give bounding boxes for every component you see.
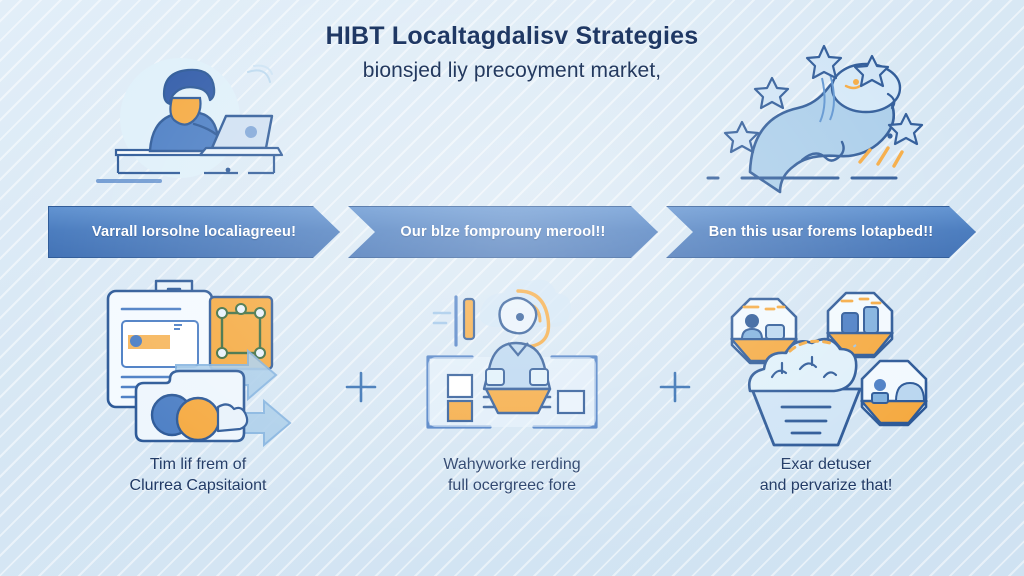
plus-separator-2	[658, 370, 692, 404]
feature-column-2: Wahyworke rerding full ocergreec fore	[376, 272, 648, 542]
feature-column-1-caption-line-2: Clurrea Capsitaiont	[68, 475, 328, 496]
avatar-on-screen-illustration	[376, 272, 648, 454]
feature-column-1-caption-line-1: Tim lif frem of	[68, 454, 328, 475]
process-banner-1[interactable]: Varrall Iorsolne localiagreeu!	[48, 206, 340, 258]
plus-separator-1	[344, 370, 378, 404]
feature-column-3: Exar detuser and pervarize that!	[690, 272, 962, 542]
documents-and-arrows-illustration	[62, 272, 334, 454]
badges-and-basket-illustration	[690, 272, 962, 454]
feature-column-2-caption-line-2: full ocergreec fore	[382, 475, 642, 496]
page-title: HIBT Localtagdalisv Strategies	[0, 22, 1024, 52]
process-banner-row: Varrall Iorsolne localiagreeu! Our blze …	[48, 206, 976, 258]
process-banner-2-label: Our blze fomprouny merool!!	[386, 224, 619, 240]
feature-column-2-caption: Wahyworke rerding full ocergreec fore	[376, 454, 648, 496]
process-banner-3-label: Ben this usar forems lotapbed!!	[695, 224, 948, 240]
feature-column-2-caption-line-1: Wahyworke rerding	[382, 454, 642, 475]
process-banner-1-label: Varrall Iorsolne localiagreeu!	[78, 224, 310, 240]
infographic-canvas: HIBT Localtagdalisv Strategies bionsjed …	[0, 0, 1024, 576]
header: HIBT Localtagdalisv Strategies bionsjed …	[0, 22, 1024, 84]
feature-column-3-caption-line-2: and pervarize that!	[696, 475, 956, 496]
process-banner-3[interactable]: Ben this usar forems lotapbed!!	[666, 206, 976, 258]
page-subtitle: bionsjed liy precoyment market,	[0, 58, 1024, 84]
process-banner-2[interactable]: Our blze fomprouny merool!!	[348, 206, 658, 258]
feature-column-3-caption: Exar detuser and pervarize that!	[690, 454, 962, 496]
feature-column-3-caption-line-1: Exar detuser	[696, 454, 956, 475]
feature-columns: Tim lif frem of Clurrea Capsitaiont	[48, 272, 976, 542]
feature-column-1-caption: Tim lif frem of Clurrea Capsitaiont	[62, 454, 334, 496]
feature-column-1: Tim lif frem of Clurrea Capsitaiont	[62, 272, 334, 542]
